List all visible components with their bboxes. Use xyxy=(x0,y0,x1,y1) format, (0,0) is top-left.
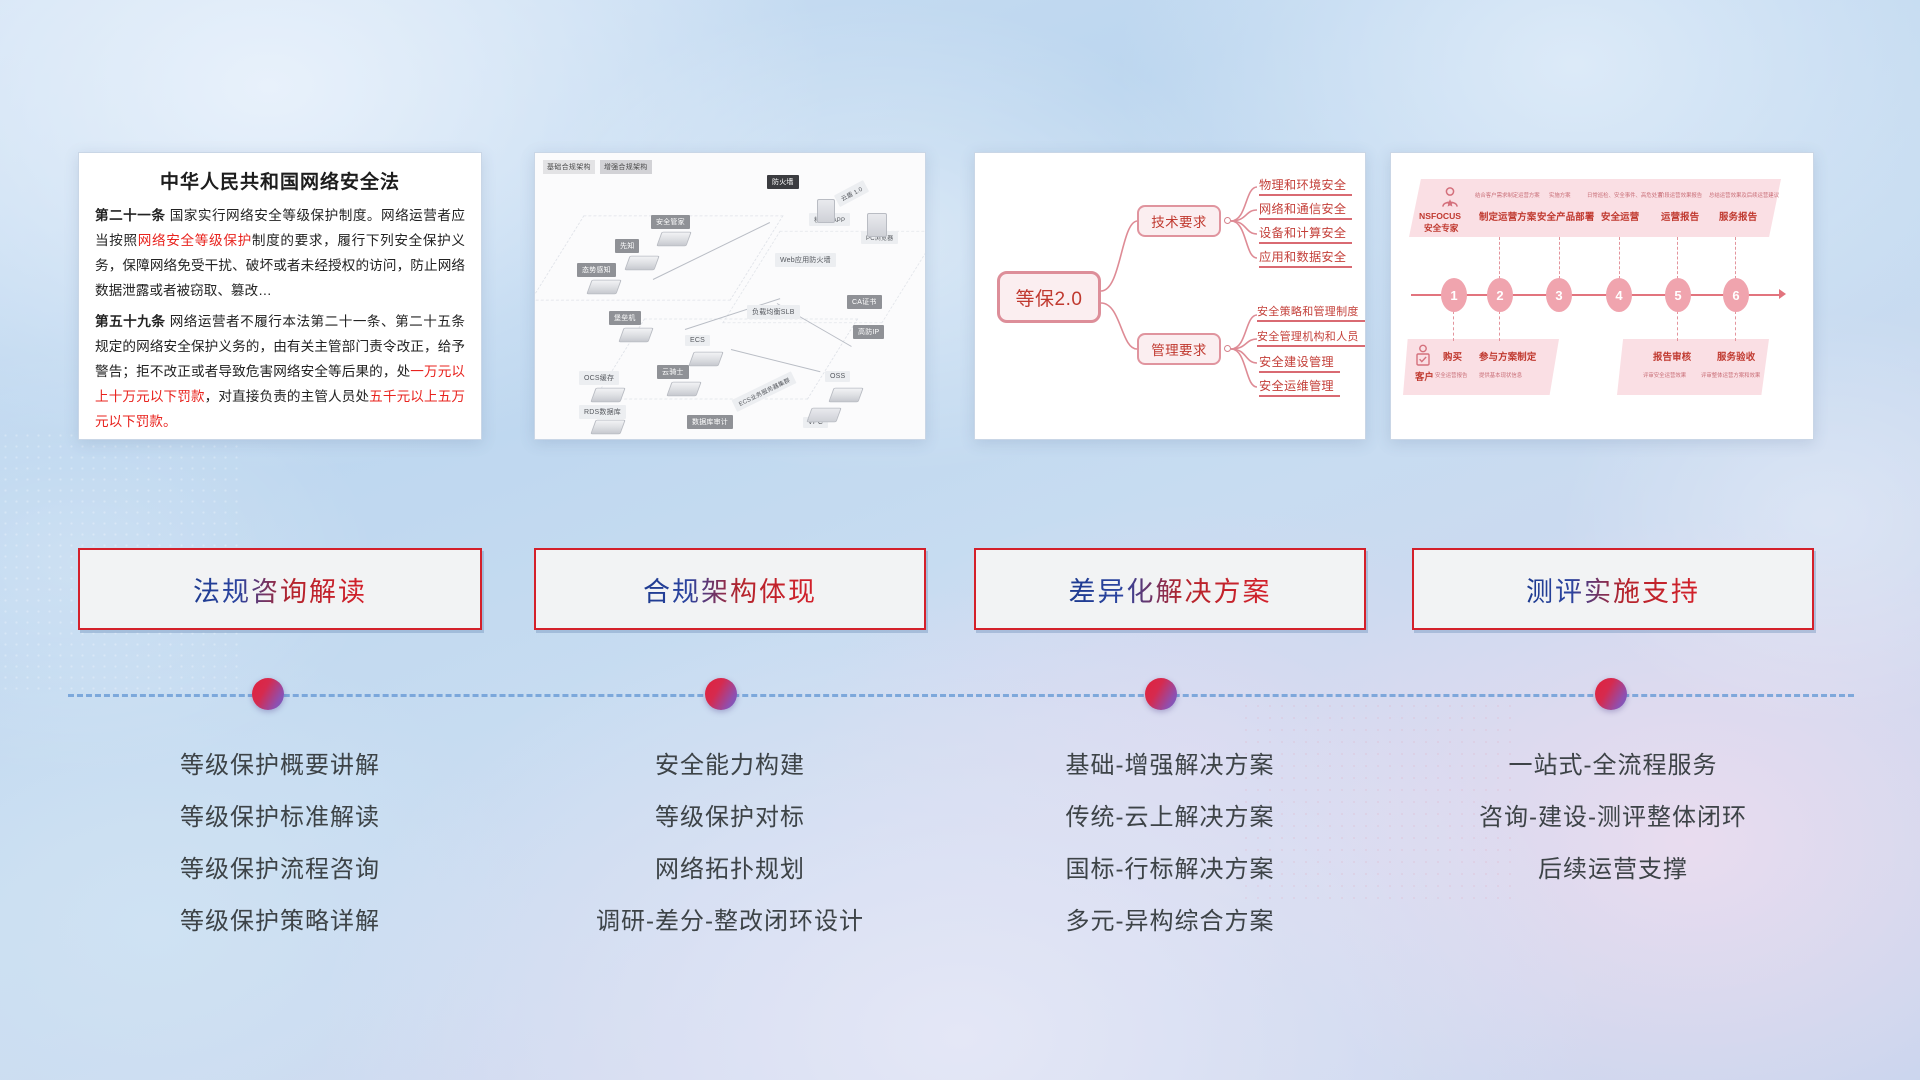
timeline-bottom-sub-2: 提供基本现状信息 xyxy=(1479,371,1522,379)
list-item: 等级保护流程咨询 xyxy=(78,844,482,896)
mindmap-root-node[interactable]: 等保2.0 xyxy=(997,271,1101,323)
mindmap-leaf-physical-env[interactable]: 物理和环境安全 xyxy=(1259,175,1346,195)
architecture-node-bastion-host: 堡垒机 xyxy=(609,311,641,325)
timeline-leader-3 xyxy=(1559,237,1560,279)
list-assessment-support: 一站式-全流程服务 咨询-建设-测评整体闭环 后续运营支撑 xyxy=(1412,740,1814,896)
law-paragraph-59: 第五十九条 网络运营者不履行本法第二十一条、第二十五条规定的网络安全保护义务的，… xyxy=(95,309,465,434)
architecture-tabs: 基础合规架构 增强合规架构 xyxy=(543,160,652,174)
architecture-node-ecs: ECS xyxy=(685,335,710,346)
architecture-node-firewall: 防火墙 xyxy=(767,175,799,189)
security-expert-icon xyxy=(1437,185,1463,211)
timeline-top-title-3: 安全运营 xyxy=(1601,209,1639,223)
timeline-top-title-2: 安全产品部署 xyxy=(1537,209,1594,223)
timeline-top-sub-2: 实施方案 xyxy=(1549,191,1571,199)
card-service-timeline[interactable]: NSFOCUS 安全专家 客户 结合客户需求制定运营方案 制定运营方案 实施方案… xyxy=(1390,152,1814,440)
architecture-icon-situational-awareness xyxy=(586,280,621,294)
mindmap-leaf-policy-system[interactable]: 安全策略和管理制度 xyxy=(1257,303,1359,321)
architecture-icon-ocs-cache xyxy=(590,388,625,402)
list-item: 一站式-全流程服务 xyxy=(1412,740,1814,792)
law-article-number-21: 第二十一条 xyxy=(95,208,165,223)
timeline-node-3[interactable]: 3 xyxy=(1546,278,1572,312)
timeline-band-expert xyxy=(1409,179,1781,237)
timeline-top-sub-4: 阶段运营效果报告 xyxy=(1659,191,1702,199)
timeline-node-1[interactable]: 1 xyxy=(1441,278,1467,312)
mindmap-collapse-dot-management[interactable] xyxy=(1224,345,1231,352)
architecture-node-slb: 负载均衡SLB xyxy=(747,305,800,319)
timeline-node-2[interactable]: 2 xyxy=(1487,278,1513,312)
category-box-differentiated-solution[interactable]: 差异化解决方案 xyxy=(974,548,1366,630)
law-card-body: 中华人民共和国网络安全法 第二十一条 国家实行网络安全等级保护制度。网络运营者应… xyxy=(79,153,481,440)
architecture-node-waf: Web应用防火墙 xyxy=(775,253,836,267)
architecture-node-oss: OSS xyxy=(825,371,850,382)
architecture-node-db-audit: 数据库审计 xyxy=(687,415,733,429)
timeline-bottom-title-1: 购买 xyxy=(1443,349,1462,363)
architecture-node-ocs-cache: OCS缓存 xyxy=(579,371,619,385)
architecture-node-ca-cert: CA证书 xyxy=(847,295,882,309)
architecture-node-xianzhi: 先知 xyxy=(615,239,639,253)
timeline-bottom-sub-4: 评审整体运营方案和效果 xyxy=(1701,371,1760,379)
timeline-canvas: NSFOCUS 安全专家 客户 结合客户需求制定运营方案 制定运营方案 实施方案… xyxy=(1391,153,1813,439)
law-paragraph-21: 第二十一条 国家实行网络安全等级保护制度。网络运营者应当按照网络安全等级保护制度… xyxy=(95,203,465,303)
list-item: 等级保护概要讲解 xyxy=(78,740,482,792)
law-text-59-b: ，对直接负责的主管人员处 xyxy=(205,389,370,404)
mindmap-leaf-app-data[interactable]: 应用和数据安全 xyxy=(1259,247,1346,267)
architecture-node-situational-awareness: 态势感知 xyxy=(577,263,616,277)
timeline-leader-b2 xyxy=(1499,311,1500,341)
timeline-axis-arrow-icon xyxy=(1779,289,1786,299)
architecture-icon-vpc xyxy=(806,408,841,422)
category-label-1: 法规咨询解读 xyxy=(193,570,367,609)
architecture-node-rds: RDS数据库 xyxy=(579,405,626,419)
architecture-icon-pc-browser xyxy=(867,213,887,237)
timeline-role-expert-line1: NSFOCUS xyxy=(1419,211,1461,221)
timeline-top-title-4: 运营报告 xyxy=(1661,209,1699,223)
timeline-band-customer-right xyxy=(1617,339,1769,395)
list-item: 安全能力构建 xyxy=(534,740,926,792)
timeline-top-title-1: 制定运营方案 xyxy=(1479,209,1536,223)
architecture-node-anti-ddos: 高防IP xyxy=(853,325,884,339)
list-differentiated-solution: 基础-增强解决方案 传统-云上解决方案 国标-行标解决方案 多元-异构综合方案 xyxy=(974,740,1366,948)
category-box-compliance-architecture[interactable]: 合规架构体现 xyxy=(534,548,926,630)
category-box-assessment-support[interactable]: 测评实施支持 xyxy=(1412,548,1814,630)
timeline-leader-b5 xyxy=(1677,311,1678,341)
architecture-icon-xianzhi xyxy=(624,256,659,270)
architecture-node-cloud-shield: 云盾 1.0 xyxy=(834,180,869,207)
slide-content: 中华人民共和国网络安全法 第二十一条 国家实行网络安全等级保护制度。网络运营者应… xyxy=(0,0,1920,1080)
timeline-rail xyxy=(68,694,1854,697)
timeline-top-sub-3: 日常巡检、安全事件、高危处置 xyxy=(1587,191,1662,199)
architecture-icon-oss xyxy=(828,388,863,402)
timeline-top-sub-5: 总结运营效果及后续运营建议 xyxy=(1709,191,1779,199)
card-compliance-architecture[interactable]: 基础合规架构 增强合规架构 防火墙 安全管家 先知 态势感知 堡垒机 Web应用… xyxy=(534,152,926,440)
card-cybersecurity-law[interactable]: 中华人民共和国网络安全法 第二十一条 国家实行网络安全等级保护制度。网络运营者应… xyxy=(78,152,482,440)
architecture-icon-security-steward xyxy=(656,232,691,246)
list-item: 网络拓扑规划 xyxy=(534,844,926,896)
mindmap-leaf-network-comm[interactable]: 网络和通信安全 xyxy=(1259,199,1346,219)
timeline-leader-b1 xyxy=(1453,311,1454,341)
timeline-node-6[interactable]: 6 xyxy=(1723,278,1749,312)
mindmap-branch-technical[interactable]: 技术要求 xyxy=(1137,205,1221,237)
rail-dot-4[interactable] xyxy=(1595,678,1627,710)
law-highlight-21: 网络安全等级保护 xyxy=(138,233,252,248)
timeline-role-customer: 客户 xyxy=(1415,369,1434,383)
customer-icon xyxy=(1411,343,1435,369)
list-item: 等级保护策略详解 xyxy=(78,896,482,948)
mindmap-canvas: 等保2.0 技术要求 管理要求 物理和环境安全 网络和通信安全 设备和计算安全 … xyxy=(975,153,1365,439)
timeline-leader-b6 xyxy=(1735,311,1736,341)
mindmap-leaf-device-compute[interactable]: 设备和计算安全 xyxy=(1259,223,1346,243)
category-label-3: 差异化解决方案 xyxy=(1069,570,1272,609)
timeline-role-expert-line2: 安全专家 xyxy=(1424,222,1458,234)
mindmap-leaf-ops-mgmt[interactable]: 安全运维管理 xyxy=(1259,376,1334,396)
timeline-node-5[interactable]: 5 xyxy=(1665,278,1691,312)
architecture-tab-basic[interactable]: 基础合规架构 xyxy=(543,160,595,174)
list-compliance-architecture: 安全能力构建 等级保护对标 网络拓扑规划 调研-差分-整改闭环设计 xyxy=(534,740,926,948)
architecture-icon-bastion-host xyxy=(618,328,653,342)
law-article-number-59: 第五十九条 xyxy=(95,314,165,329)
law-title: 中华人民共和国网络安全法 xyxy=(95,167,465,194)
rail-dot-2[interactable] xyxy=(705,678,737,710)
mindmap-leaf-org-personnel[interactable]: 安全管理机构和人员 xyxy=(1257,328,1359,346)
list-item: 多元-异构综合方案 xyxy=(974,896,1366,948)
mindmap-collapse-dot-technical[interactable] xyxy=(1224,217,1231,224)
architecture-icon-rds xyxy=(590,420,625,434)
architecture-icon-mobile-app xyxy=(817,199,835,223)
timeline-top-title-5: 服务报告 xyxy=(1719,209,1757,223)
timeline-bottom-title-2: 参与方案制定 xyxy=(1479,349,1536,363)
timeline-leader-4 xyxy=(1619,237,1620,279)
timeline-bottom-sub-3: 评审安全运营效果 xyxy=(1643,371,1686,379)
list-item: 调研-差分-整改闭环设计 xyxy=(534,896,926,948)
architecture-node-security-steward: 安全管家 xyxy=(651,215,690,229)
list-item: 等级保护标准解读 xyxy=(78,792,482,844)
timeline-bottom-title-3: 报告审核 xyxy=(1653,349,1691,363)
timeline-leader-5 xyxy=(1677,237,1678,279)
card-mindmap-dengbao[interactable]: 等保2.0 技术要求 管理要求 物理和环境安全 网络和通信安全 设备和计算安全 … xyxy=(974,152,1366,440)
list-item: 基础-增强解决方案 xyxy=(974,740,1366,792)
timeline-leader-2 xyxy=(1499,237,1500,279)
list-item: 后续运营支撑 xyxy=(1412,844,1814,896)
list-item: 等级保护对标 xyxy=(534,792,926,844)
list-item: 咨询-建设-测评整体闭环 xyxy=(1412,792,1814,844)
category-label-4: 测评实施支持 xyxy=(1526,570,1700,609)
rail-dot-1[interactable] xyxy=(252,678,284,710)
architecture-tab-enhanced[interactable]: 增强合规架构 xyxy=(600,160,652,174)
architecture-icon-ecs xyxy=(688,352,723,366)
category-label-2: 合规架构体现 xyxy=(643,570,817,609)
architecture-node-cloud-knight: 云骑士 xyxy=(657,365,689,379)
category-box-regulation-consulting[interactable]: 法规咨询解读 xyxy=(78,548,482,630)
mindmap-branch-management[interactable]: 管理要求 xyxy=(1137,333,1221,365)
timeline-node-4[interactable]: 4 xyxy=(1606,278,1632,312)
list-item: 传统-云上解决方案 xyxy=(974,792,1366,844)
timeline-bottom-title-4: 服务验收 xyxy=(1717,349,1755,363)
architecture-diagram: 基础合规架构 增强合规架构 防火墙 安全管家 先知 态势感知 堡垒机 Web应用… xyxy=(535,153,925,439)
rail-dot-3[interactable] xyxy=(1145,678,1177,710)
mindmap-leaf-build-mgmt[interactable]: 安全建设管理 xyxy=(1259,352,1334,372)
timeline-bottom-sub-1: 安全运营报告 xyxy=(1435,371,1467,379)
architecture-icon-cloud-knight xyxy=(666,382,701,396)
list-item: 国标-行标解决方案 xyxy=(974,844,1366,896)
timeline-top-sub-1: 结合客户需求制定运营方案 xyxy=(1475,191,1540,199)
list-regulation-consulting: 等级保护概要讲解 等级保护标准解读 等级保护流程咨询 等级保护策略详解 xyxy=(78,740,482,948)
timeline-leader-6 xyxy=(1735,237,1736,279)
